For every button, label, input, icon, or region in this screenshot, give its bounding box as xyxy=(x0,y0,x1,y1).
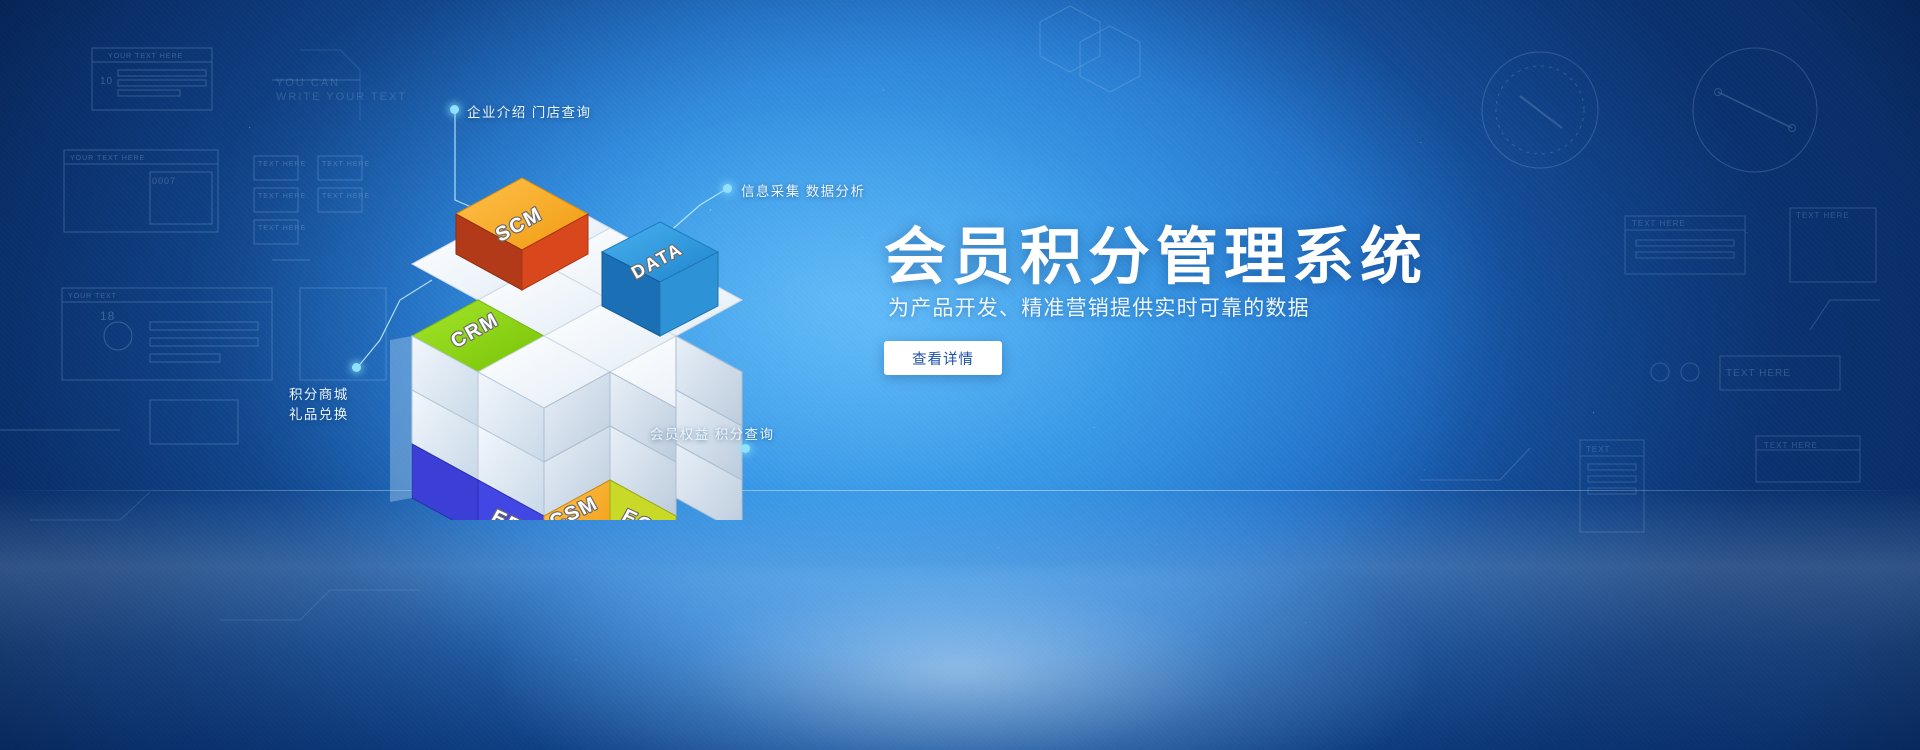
page-title: 会员积分管理系统 xyxy=(884,225,1584,290)
callout-top-label: 企业介绍 门店查询 xyxy=(467,101,591,121)
callout-left-line1: 积分商城 xyxy=(289,385,349,405)
page-subtitle: 为产品开发、精准营销提供实时可靠的数据 xyxy=(888,292,1588,322)
callout-left-label: 积分商城 礼品兑换 xyxy=(289,385,349,424)
callout-connectors xyxy=(0,0,1920,750)
callout-dot-right xyxy=(723,184,732,193)
callout-right-label: 信息采集 数据分析 xyxy=(741,180,865,200)
view-details-button[interactable]: 查看详情 xyxy=(884,341,1002,375)
rubiks-cube-illustration: SCM DATA CRM ERP CSM ECM xyxy=(330,140,760,520)
callout-dot-top xyxy=(450,105,459,114)
callout-dot-left xyxy=(352,363,361,372)
callout-bottom-label: 会员权益 积分查询 xyxy=(650,423,774,443)
cube-glass-edge xyxy=(390,336,412,502)
callout-dot-bottom xyxy=(741,444,750,453)
hero-banner: YOUR TEXT HERE YOUR TEXT HERE TEXT HERE … xyxy=(0,0,1920,750)
callout-left-line2: 礼品兑换 xyxy=(289,405,349,425)
